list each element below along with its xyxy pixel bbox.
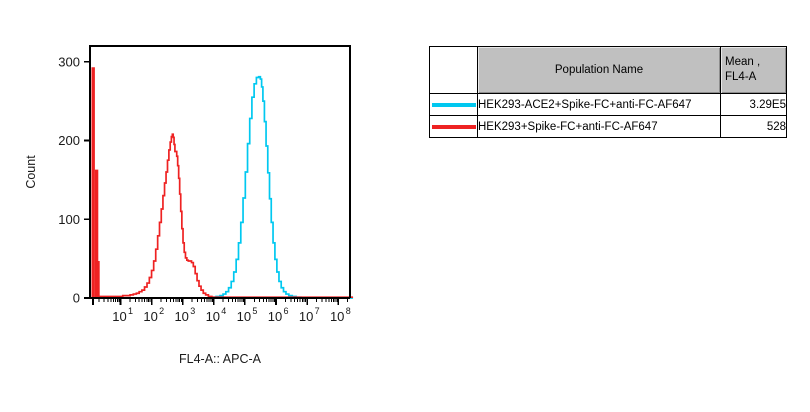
- legend-color-swatch: [432, 125, 476, 129]
- histogram-trace: [93, 77, 353, 298]
- x-tick-label: 10: [299, 309, 313, 324]
- legend-color-swatch: [432, 103, 476, 107]
- x-tick-label: 10: [143, 309, 157, 324]
- y-tick-label: 200: [58, 133, 80, 148]
- x-tick-exponent: 7: [315, 306, 320, 316]
- legend-color-swatch-cell: [430, 94, 478, 116]
- legend-row: HEK293-ACE2+Spike-FC+anti-FC-AF6473.29E5: [430, 94, 787, 116]
- legend-header-swatch-cell: [430, 47, 478, 94]
- x-tick-label: 10: [268, 309, 282, 324]
- legend-row: HEK293+Spike-FC+anti-FC-AF647528: [430, 116, 787, 138]
- population-legend-table: Population Name Mean , FL4-A HEK293-ACE2…: [429, 46, 787, 138]
- x-tick-label: 10: [237, 309, 251, 324]
- legend-header-row: Population Name Mean , FL4-A: [430, 47, 787, 94]
- x-tick-label: 10: [330, 309, 344, 324]
- x-tick-exponent: 6: [283, 306, 288, 316]
- x-tick-exponent: 3: [190, 306, 195, 316]
- x-tick-exponent: 2: [159, 306, 164, 316]
- legend-population-name: HEK293-ACE2+Spike-FC+anti-FC-AF647: [478, 94, 721, 116]
- y-tick-label: 0: [73, 291, 80, 306]
- trace-group: [93, 67, 353, 298]
- legend-color-swatch-cell: [430, 116, 478, 138]
- x-tick-exponent: 8: [346, 306, 351, 316]
- y-tick-label: 100: [58, 212, 80, 227]
- legend-header-population-name-label: Population Name: [478, 63, 720, 77]
- legend-mean-value: 528: [721, 116, 787, 138]
- x-tick-label: 10: [174, 309, 188, 324]
- y-axis-title: Count: [24, 155, 38, 189]
- legend-header-mean-label: Mean , FL4-A: [721, 55, 786, 85]
- legend-body: HEK293-ACE2+Spike-FC+anti-FC-AF6473.29E5…: [430, 94, 787, 138]
- legend-header-population-name: Population Name: [478, 47, 721, 94]
- x-tick-label: 10: [112, 309, 126, 324]
- flow-cytometry-histogram-panel: 0100200300 101102103104105106107108FL4-A…: [0, 0, 420, 412]
- histogram-svg: 0100200300 101102103104105106107108FL4-A…: [0, 0, 420, 412]
- legend-population-name: HEK293+Spike-FC+anti-FC-AF647: [478, 116, 721, 138]
- axis-frame: [90, 46, 350, 298]
- x-tick-label: 10: [206, 309, 220, 324]
- legend-mean-value: 3.29E5: [721, 94, 787, 116]
- legend-header-mean: Mean , FL4-A: [721, 47, 787, 94]
- y-tick-label: 300: [58, 54, 80, 69]
- x-tick-exponent: 1: [128, 306, 133, 316]
- histogram-trace: [93, 134, 353, 298]
- x-tick-exponent: 5: [252, 306, 257, 316]
- x-axis-title: FL4-A:: APC-A: [179, 352, 262, 366]
- y-axis-ticks: 0100200300: [58, 54, 90, 305]
- x-tick-exponent: 4: [221, 306, 226, 316]
